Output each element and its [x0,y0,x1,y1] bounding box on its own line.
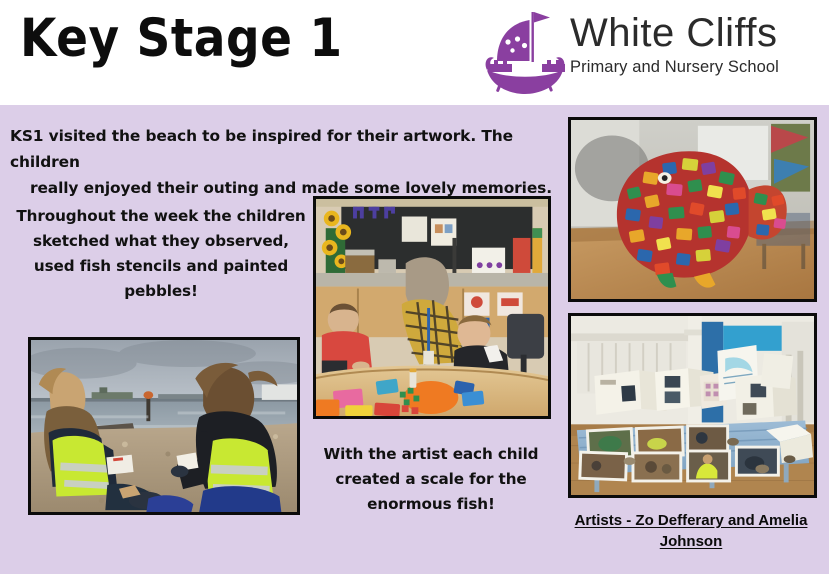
photo-fish-sculpture [568,117,817,302]
artist-paragraph: With the artist each child created a sca… [312,442,550,517]
viking-ship-icon [484,8,566,96]
brand-text-block: White Cliffs Primary and Nursery School [570,10,824,77]
page-header: Key Stage 1 [0,0,829,105]
page-title: Key Stage 1 [20,8,343,70]
photo-beach-sketching [28,337,300,515]
artists-credit: Artists - Zo Defferary and Amelia Johnso… [560,510,822,552]
poster-body: KS1 visited the beach to be inspired for… [0,105,829,574]
week-paragraph: Throughout the week the children sketche… [16,204,306,304]
photo-classroom-activity [313,196,551,419]
brand-subtitle: Primary and Nursery School [570,57,824,77]
poster-page: Key Stage 1 [0,0,829,574]
school-brand: White Cliffs Primary and Nursery School [484,6,824,100]
photo-artwork-display [568,313,817,498]
brand-name: White Cliffs [570,10,824,56]
intro-line-1: KS1 visited the beach to be inspired for… [10,127,513,171]
intro-paragraph: KS1 visited the beach to be inspired for… [10,123,558,201]
